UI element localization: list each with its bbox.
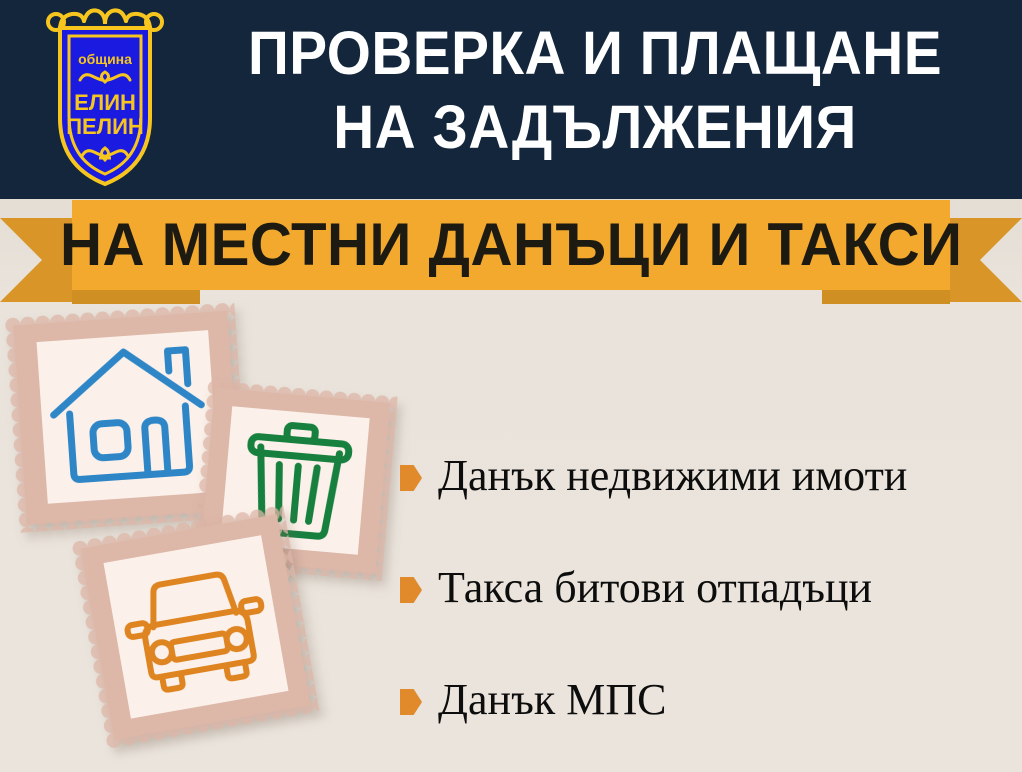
- list-item[interactable]: Данък МПС: [400, 644, 1020, 756]
- list-item-label: Данък недвижими имоти: [438, 452, 907, 500]
- arrow-bullet-icon: [400, 465, 422, 491]
- svg-text:ПЕЛИН: ПЕЛИН: [66, 114, 144, 139]
- list-item[interactable]: Данък недвижими имоти: [400, 420, 1020, 532]
- ribbon-label: НА МЕСТНИ ДАНЪЦИ И ТАКСИ: [60, 215, 963, 275]
- stamp-card-group: [0, 300, 400, 772]
- svg-text:ЕЛИН: ЕЛИН: [74, 90, 136, 115]
- list-item-label: Данък МПС: [438, 676, 666, 724]
- coat-of-arms-icon: община ЕЛИН ПЕЛИН: [40, 6, 170, 191]
- car-stamp-icon: [71, 505, 319, 749]
- title-line-2: НА ЗАДЪЛЖЕНИЯ: [209, 90, 981, 164]
- arrow-bullet-icon: [400, 689, 422, 715]
- arrow-bullet-icon: [400, 577, 422, 603]
- header-bar: община ЕЛИН ПЕЛИН ПРОВЕРКА И ПЛАЩАНЕ НА …: [0, 0, 1022, 199]
- municipality-logo: община ЕЛИН ПЕЛИН: [40, 6, 170, 191]
- svg-text:община: община: [78, 51, 132, 67]
- title-line-1: ПРОВЕРКА И ПЛАЩАНЕ: [209, 16, 981, 90]
- poster-root: община ЕЛИН ПЕЛИН ПРОВЕРКА И ПЛАЩАНЕ НА …: [0, 0, 1022, 772]
- page-title: ПРОВЕРКА И ПЛАЩАНЕ НА ЗАДЪЛЖЕНИЯ: [180, 16, 1010, 164]
- tax-type-list: Данък недвижими имоти Такса битови отпад…: [400, 420, 1020, 756]
- ribbon-main-band: НА МЕСТНИ ДАНЪЦИ И ТАКСИ: [72, 200, 950, 290]
- list-item[interactable]: Такса битови отпадъци: [400, 532, 1020, 644]
- ribbon-banner: НА МЕСТНИ ДАНЪЦИ И ТАКСИ: [0, 198, 1022, 306]
- list-item-label: Такса битови отпадъци: [438, 564, 872, 612]
- stamp-card-vehicle: [71, 505, 319, 749]
